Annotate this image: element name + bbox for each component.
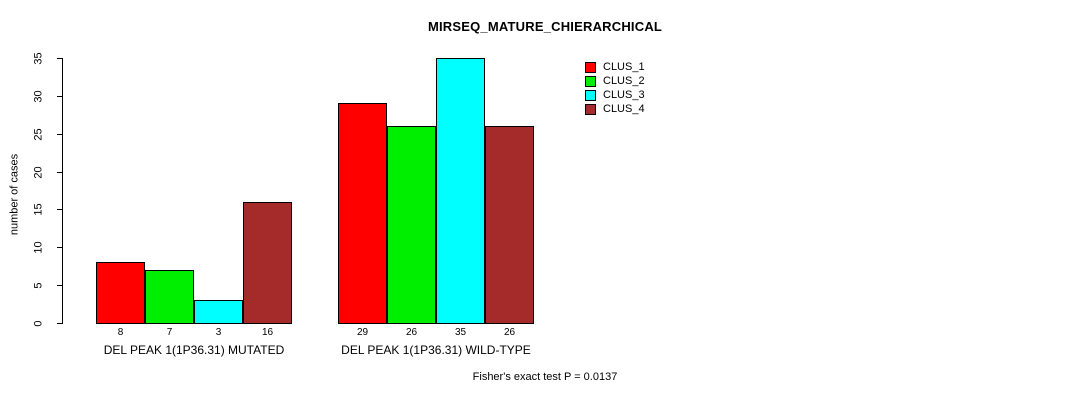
bar-chart-figure: MIRSEQ_MATURE_CHIERARCHICAL 051015202530… [0, 0, 1090, 400]
legend-item: CLUS_3 [585, 88, 645, 102]
y-axis-tick [57, 96, 62, 97]
y-axis-tick [57, 285, 62, 286]
bar [338, 103, 387, 324]
bar-value-label: 3 [194, 328, 243, 338]
bar [145, 270, 194, 324]
statistical-test-annotation: Fisher's exact test P = 0.0137 [0, 371, 1090, 383]
bar-value-label: 8 [96, 328, 145, 338]
chart-title: MIRSEQ_MATURE_CHIERARCHICAL [0, 19, 1090, 34]
y-axis-line [62, 58, 63, 324]
y-axis-tick-label: 25 [34, 120, 45, 150]
bar-value-label: 7 [145, 328, 194, 338]
group-label: DEL PEAK 1(1P36.31) WILD-TYPE [258, 344, 614, 357]
y-axis-tick-label: 30 [34, 82, 45, 112]
y-axis-tick-label: 15 [34, 195, 45, 225]
y-axis-tick [57, 172, 62, 173]
legend: CLUS_1CLUS_2CLUS_3CLUS_4 [585, 60, 645, 116]
bar-value-label: 26 [387, 328, 436, 338]
y-axis-tick-label: 5 [34, 271, 45, 301]
bar [243, 202, 292, 324]
bar [387, 126, 436, 324]
y-axis-tick-label: 20 [34, 158, 45, 188]
legend-item: CLUS_2 [585, 74, 645, 88]
legend-item-label: CLUS_4 [603, 104, 645, 115]
legend-item-label: CLUS_2 [603, 76, 645, 87]
bar-value-label: 26 [485, 328, 534, 338]
y-axis-title: number of cases [10, 140, 21, 250]
legend-color-swatch [585, 76, 596, 87]
y-axis-tick [57, 323, 62, 324]
legend-item-label: CLUS_1 [603, 62, 645, 73]
y-axis-tick [57, 58, 62, 59]
y-axis-tick [57, 209, 62, 210]
bar [436, 58, 485, 324]
legend-color-swatch [585, 62, 596, 73]
bar [194, 300, 243, 324]
legend-color-swatch [585, 104, 596, 115]
legend-color-swatch [585, 90, 596, 101]
bar-value-label: 35 [436, 328, 485, 338]
y-axis-tick [57, 134, 62, 135]
legend-item-label: CLUS_3 [603, 90, 645, 101]
legend-item: CLUS_4 [585, 102, 645, 116]
bar-value-label: 29 [338, 328, 387, 338]
bar [96, 262, 145, 324]
y-axis-tick [57, 247, 62, 248]
y-axis-tick-label: 0 [34, 309, 45, 339]
legend-item: CLUS_1 [585, 60, 645, 74]
y-axis-tick-label: 35 [34, 44, 45, 74]
bar [485, 126, 534, 324]
y-axis-tick-label: 10 [34, 233, 45, 263]
bar-value-label: 16 [243, 328, 292, 338]
